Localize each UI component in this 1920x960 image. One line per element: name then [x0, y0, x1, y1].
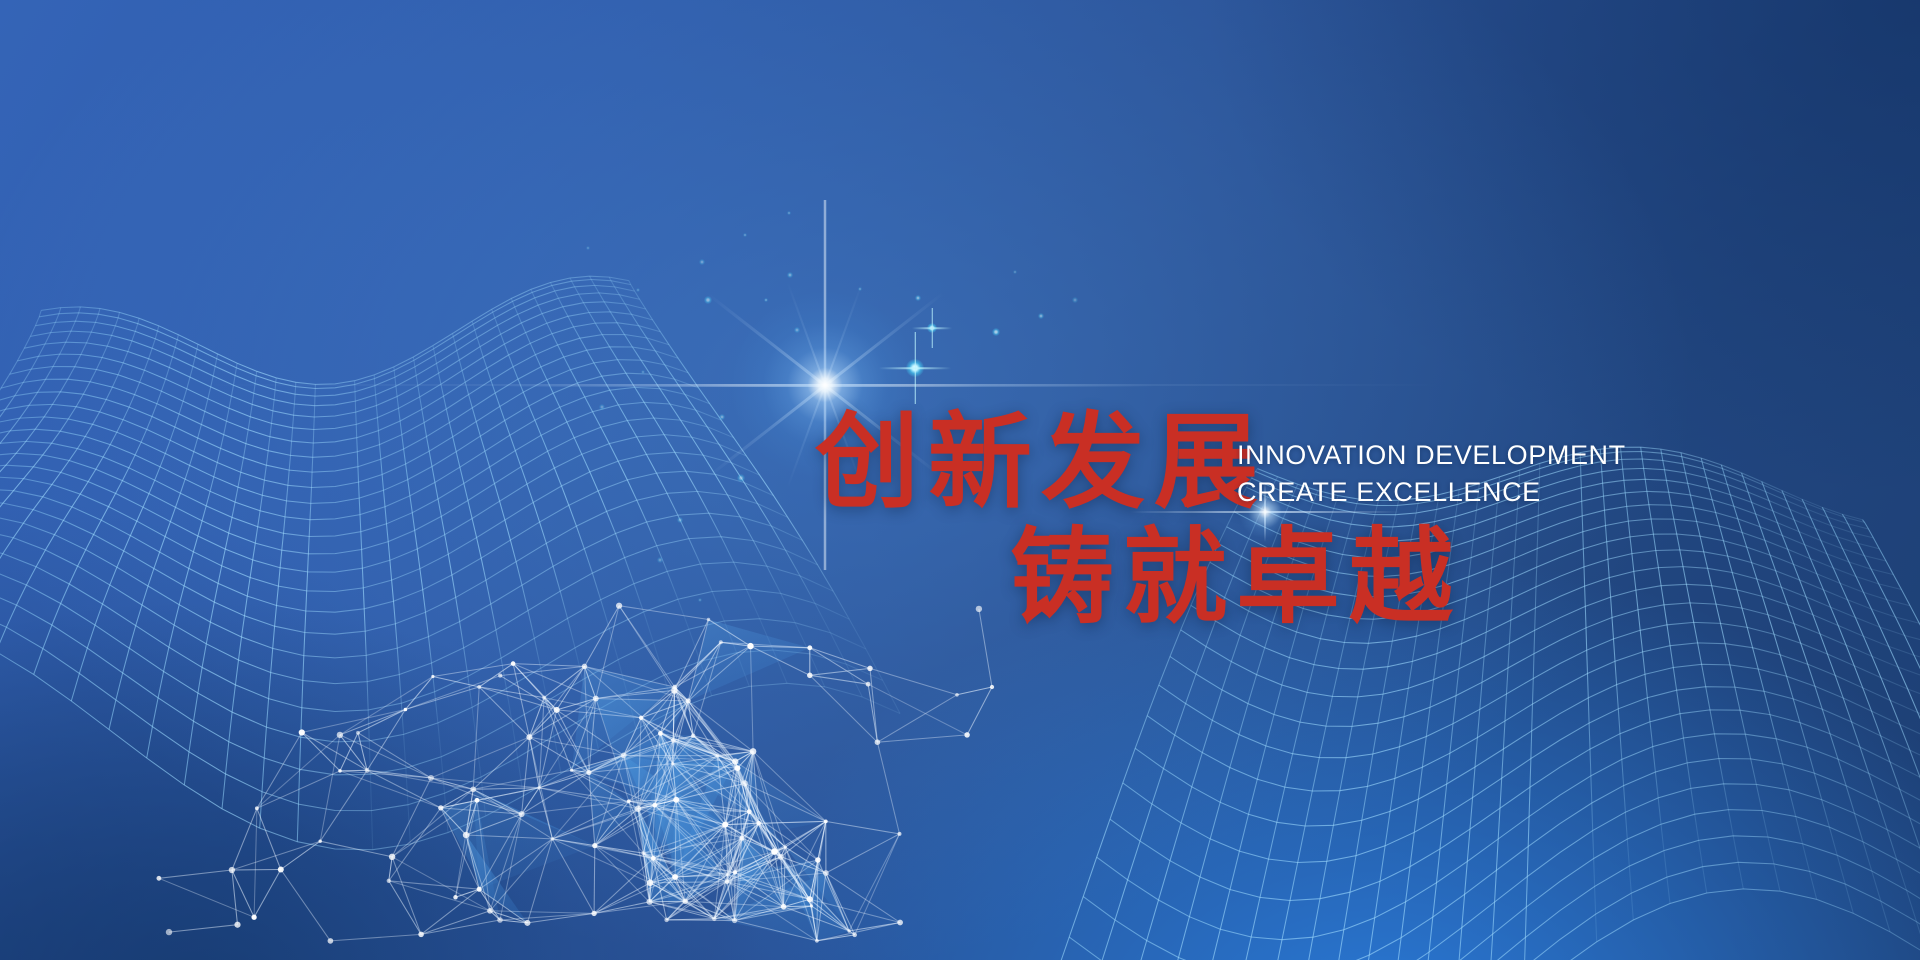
headline-line-1: 创新发展	[815, 410, 1267, 514]
headline-block: 创新发展 铸就卓越 INNOVATION DEVELOPMENT CREATE …	[0, 0, 1920, 960]
subtitle-block: INNOVATION DEVELOPMENT CREATE EXCELLENCE	[1237, 437, 1626, 511]
subtitle-line-1: INNOVATION DEVELOPMENT	[1237, 437, 1626, 474]
headline-line-2: 铸就卓越	[1010, 525, 1462, 629]
subtitle-line-2: CREATE EXCELLENCE	[1237, 474, 1626, 511]
hero-banner: 创新发展 铸就卓越 INNOVATION DEVELOPMENT CREATE …	[0, 0, 1920, 960]
